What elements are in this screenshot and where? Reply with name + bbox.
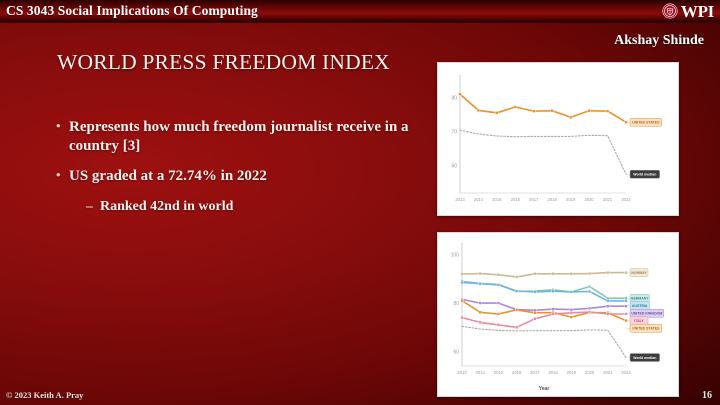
course-title: CS 3043 Social Implications Of Computing — [0, 3, 258, 19]
slide-body: • Represents how much freedom journalist… — [56, 118, 416, 216]
footer-copyright: © 2023 Keith A. Pray — [6, 390, 83, 400]
bullet-marker-icon: • — [56, 118, 69, 156]
svg-text:World median: World median — [633, 356, 656, 360]
svg-text:2013: 2013 — [455, 197, 465, 202]
wpi-wordmark: WPI — [681, 3, 714, 20]
svg-text:2020: 2020 — [585, 370, 595, 375]
sub-bullet-item: – Ranked 42nd in world — [86, 198, 416, 216]
sub-bullet-marker-icon: – — [86, 198, 100, 216]
svg-text:2014: 2014 — [474, 197, 484, 202]
bullet-text: Represents how much freedom journalist r… — [69, 118, 416, 156]
bullet-marker-icon: • — [56, 167, 69, 186]
footer-page-number: 16 — [702, 390, 712, 401]
svg-text:GERMANY: GERMANY — [631, 297, 650, 301]
chart-world-press-freedom-us-vs-median: 6070802013201420152016201720182019202020… — [437, 62, 679, 216]
svg-text:2022: 2022 — [621, 197, 631, 202]
svg-text:2018: 2018 — [548, 197, 558, 202]
svg-text:2017: 2017 — [530, 370, 540, 375]
svg-text:2013: 2013 — [457, 370, 467, 375]
svg-text:UNITED KINGDOM: UNITED KINGDOM — [631, 312, 662, 316]
svg-text:2019: 2019 — [567, 370, 577, 375]
svg-text:2016: 2016 — [512, 370, 522, 375]
slide: CS 3043 Social Implications Of Computing… — [0, 0, 720, 405]
svg-text:NORWAY: NORWAY — [631, 271, 647, 275]
wpi-seal-icon — [662, 3, 678, 19]
sub-bullet-text: Ranked 42nd in world — [100, 198, 233, 216]
svg-text:2015: 2015 — [492, 197, 502, 202]
svg-text:100: 100 — [451, 253, 460, 259]
bullet-item: • US graded at a 72.74% in 2022 — [56, 167, 416, 186]
svg-text:2021: 2021 — [603, 197, 613, 202]
svg-text:UNITED STATES: UNITED STATES — [632, 121, 660, 125]
slide-header-bar: CS 3043 Social Implications Of Computing… — [0, 0, 720, 23]
svg-text:60: 60 — [451, 164, 457, 170]
svg-text:2018: 2018 — [548, 370, 558, 375]
svg-text:2020: 2020 — [584, 197, 594, 202]
svg-text:2021: 2021 — [603, 370, 613, 375]
wpi-brand: WPI — [662, 3, 720, 20]
presenter-name: Akshay Shinde — [614, 33, 704, 49]
svg-text:Year: Year — [539, 386, 550, 392]
svg-text:AUSTRIA: AUSTRIA — [632, 304, 648, 308]
svg-text:2017: 2017 — [529, 197, 539, 202]
svg-text:70: 70 — [451, 130, 457, 136]
slide-title: WORLD PRESS FREEDOM INDEX — [57, 50, 390, 75]
svg-text:2014: 2014 — [476, 370, 486, 375]
svg-text:60: 60 — [453, 349, 459, 355]
svg-text:2015: 2015 — [494, 370, 504, 375]
bullet-text: US graded at a 72.74% in 2022 — [69, 167, 416, 186]
svg-text:2019: 2019 — [566, 197, 576, 202]
bullet-item: • Represents how much freedom journalist… — [56, 118, 416, 156]
svg-text:2022: 2022 — [621, 370, 631, 375]
svg-text:World median: World median — [633, 173, 656, 177]
svg-text:ITALY: ITALY — [634, 319, 644, 323]
svg-text:80: 80 — [451, 95, 457, 101]
svg-text:2016: 2016 — [511, 197, 521, 202]
svg-text:UNITED STATES: UNITED STATES — [632, 327, 660, 331]
chart-world-press-freedom-countries: 6080100201320142015201620172018201920202… — [437, 232, 679, 397]
svg-text:80: 80 — [453, 301, 459, 307]
